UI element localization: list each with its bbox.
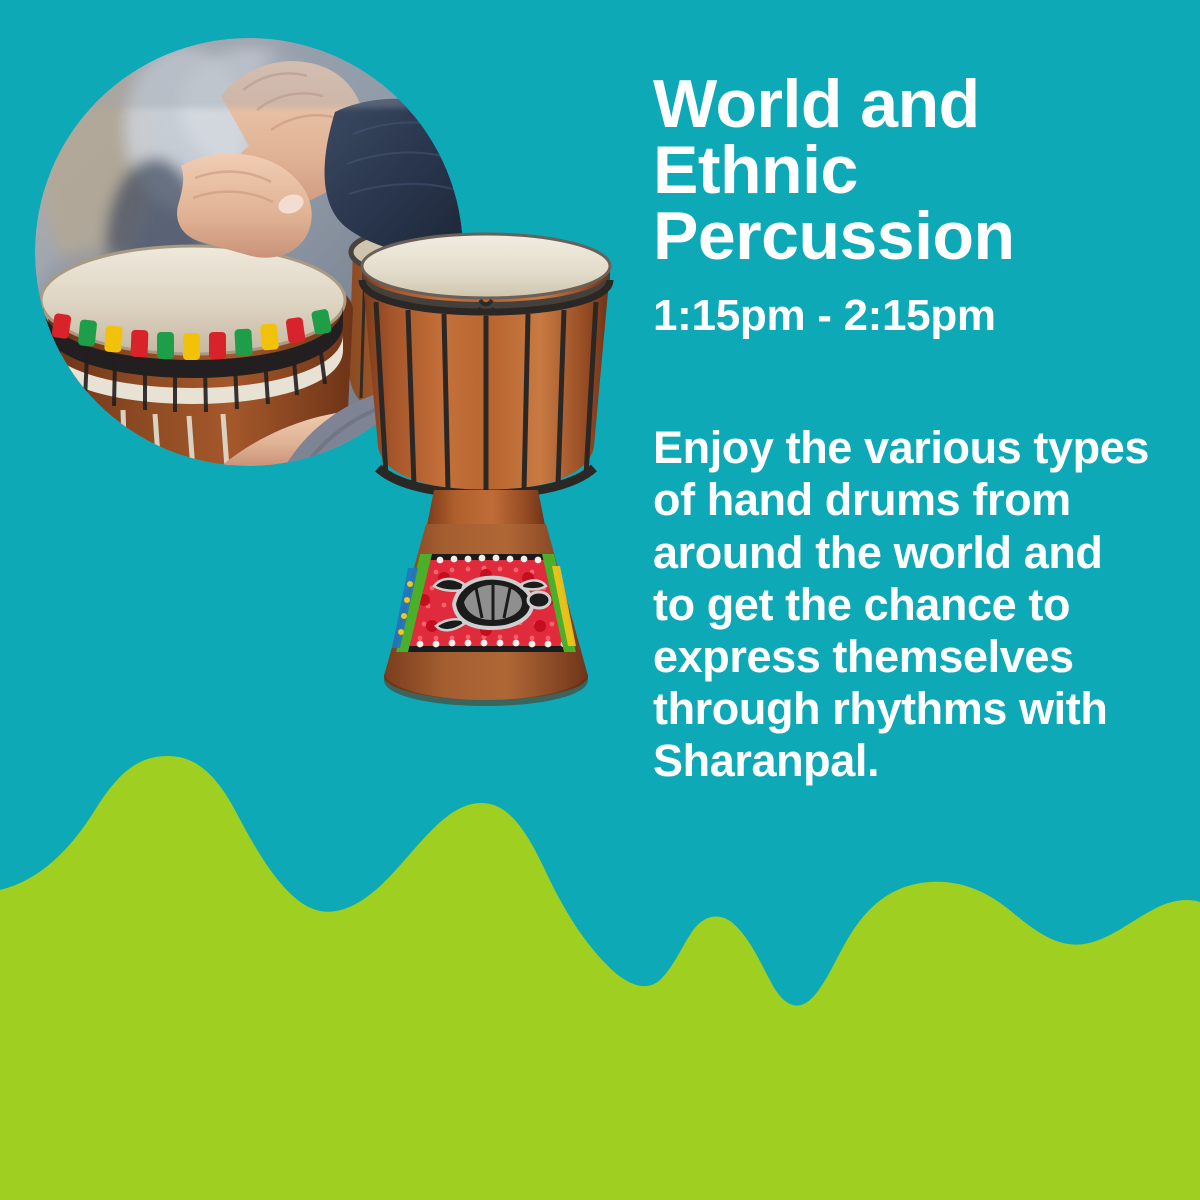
photo-depth-blur <box>35 38 463 108</box>
poster-canvas: World and Ethnic Percussion 1:15pm - 2:1… <box>0 0 1200 1200</box>
djembe-svg <box>336 228 636 756</box>
session-description: Enjoy the various types of hand drums fr… <box>653 422 1153 787</box>
djembe-art-band <box>392 554 576 652</box>
session-time: 1:15pm - 2:15pm <box>653 292 1173 340</box>
text-content-column: World and Ethnic Percussion 1:15pm - 2:1… <box>653 72 1173 788</box>
djembe-drum-illustration <box>336 228 636 756</box>
green-wave-decoration <box>0 730 1200 1200</box>
green-wave-path <box>0 756 1200 1200</box>
green-wave-svg <box>0 730 1200 1200</box>
page-title: World and Ethnic Percussion <box>653 72 1173 270</box>
